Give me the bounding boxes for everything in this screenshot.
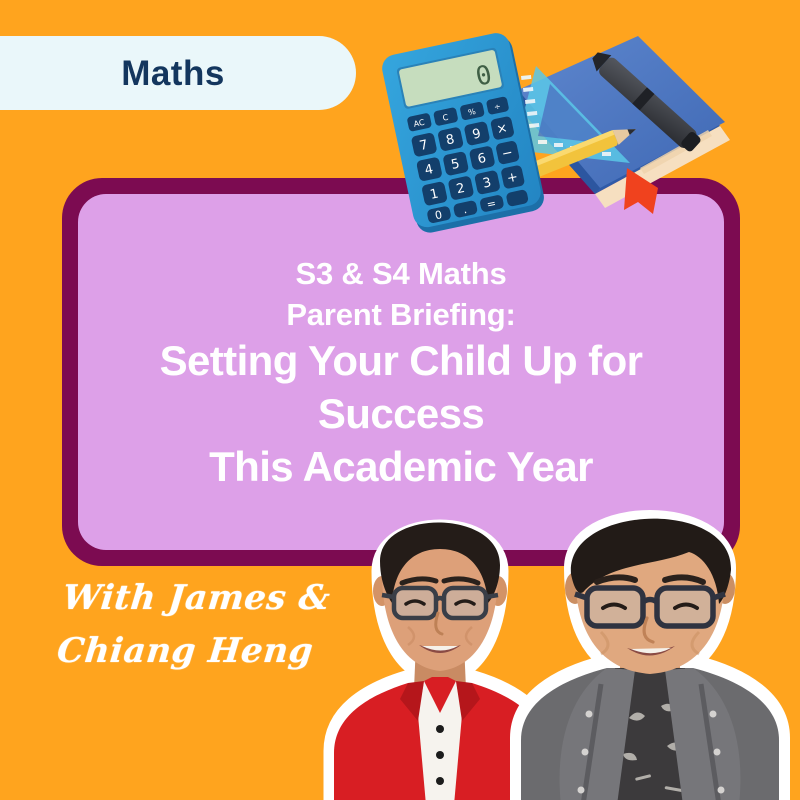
poster-canvas: Maths <box>0 0 800 800</box>
portrait-chiang-heng <box>505 470 795 800</box>
presenter-line-2: Chiang Heng <box>54 625 327 678</box>
title-line-4: Success <box>96 388 706 441</box>
subject-badge-label: Maths <box>91 56 225 91</box>
subject-badge: Maths <box>0 36 356 110</box>
calculator-icon: 0 ACC %÷ <box>380 30 547 235</box>
title-line-2: Parent Briefing: <box>96 295 706 335</box>
presenter-credit: With James & Chiang Heng <box>54 572 332 677</box>
title-line-1: S3 & S4 Maths <box>96 254 706 294</box>
presenter-line-1: With James & <box>60 572 333 625</box>
maths-stationery-illustration: 0 ACC %÷ <box>390 18 750 243</box>
title-text-block: S3 & S4 Maths Parent Briefing: Setting Y… <box>78 250 724 493</box>
title-line-3: Setting Your Child Up for <box>96 335 706 388</box>
presenter-portraits <box>320 470 800 800</box>
